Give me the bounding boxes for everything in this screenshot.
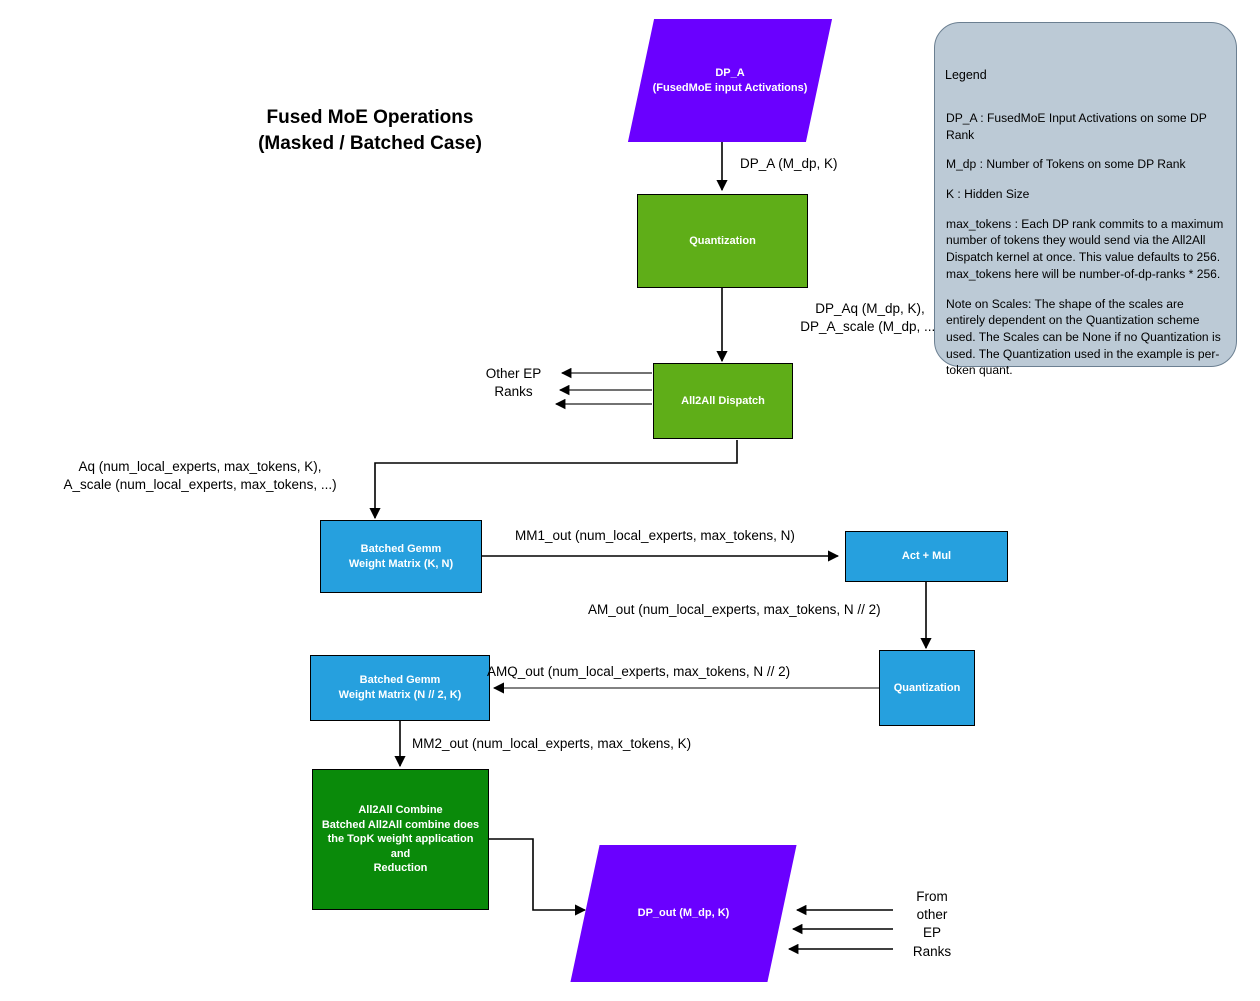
edge-label-dispatch-out: Aq (num_local_experts, max_tokens, K), A… [35,458,365,494]
node-dp-out-label: DP_out (M_dp, K) [585,845,782,982]
node-batched-gemm-2-label: Batched Gemm Weight Matrix (N // 2, K) [335,673,466,702]
node-all2all-dispatch[interactable]: All2All Dispatch [653,363,793,439]
edge-label-am-out: AM_out (num_local_experts, max_tokens, N… [588,601,988,619]
node-quantization-1-label: Quantization [685,234,760,249]
edge-label-dp-a-out: DP_A (M_dp, K) [740,155,960,173]
node-all2all-dispatch-label: All2All Dispatch [677,394,769,409]
legend-heading: Legend [945,68,987,82]
node-batched-gemm-1[interactable]: Batched Gemm Weight Matrix (K, N) [320,520,482,593]
edge-combine-to-dpout [489,839,585,910]
node-quantization-2-label: Quantization [890,681,965,696]
legend-item-dp-a: DP_A : FusedMoE Input Activations on som… [946,110,1225,143]
legend-item-note-on-scales: Note on Scales: The shape of the scales … [946,296,1225,379]
legend-items: DP_A : FusedMoE Input Activations on som… [934,110,1237,379]
edge-label-from-other-ep-ranks: From other EP Ranks [897,888,967,961]
legend-item-k: K : Hidden Size [946,186,1225,203]
diagram-canvas: Fused MoE Operations (Masked / Batched C… [0,0,1260,1001]
node-quantization-1[interactable]: Quantization [637,194,808,288]
node-batched-gemm-2[interactable]: Batched Gemm Weight Matrix (N // 2, K) [310,655,490,721]
node-dp-a-label: DP_A (FusedMoE input Activations) [641,19,819,142]
legend-item-max-tokens: max_tokens : Each DP rank commits to a m… [946,216,1225,283]
legend-item-m-dp: M_dp : Number of Tokens on some DP Rank [946,156,1225,173]
node-batched-gemm-1-label: Batched Gemm Weight Matrix (K, N) [345,542,457,571]
edge-label-other-ep-ranks: Other EP Ranks [466,365,561,401]
edge-label-mm2-out: MM2_out (num_local_experts, max_tokens, … [412,735,832,753]
node-dp-a[interactable]: DP_A (FusedMoE input Activations) [641,19,819,142]
diagram-title: Fused MoE Operations (Masked / Batched C… [195,105,545,156]
edge-label-amq-out: AMQ_out (num_local_experts, max_tokens, … [487,663,887,681]
node-dp-out[interactable]: DP_out (M_dp, K) [585,845,782,982]
node-all2all-combine[interactable]: All2All Combine Batched All2All combine … [312,769,489,910]
edge-label-mm1-out: MM1_out (num_local_experts, max_tokens, … [515,527,875,545]
node-quantization-2[interactable]: Quantization [879,650,975,726]
node-all2all-combine-label: All2All Combine Batched All2All combine … [313,803,488,876]
edge-dispatch-to-gemm1 [375,440,737,518]
node-act-mul-label: Act + Mul [898,549,955,564]
